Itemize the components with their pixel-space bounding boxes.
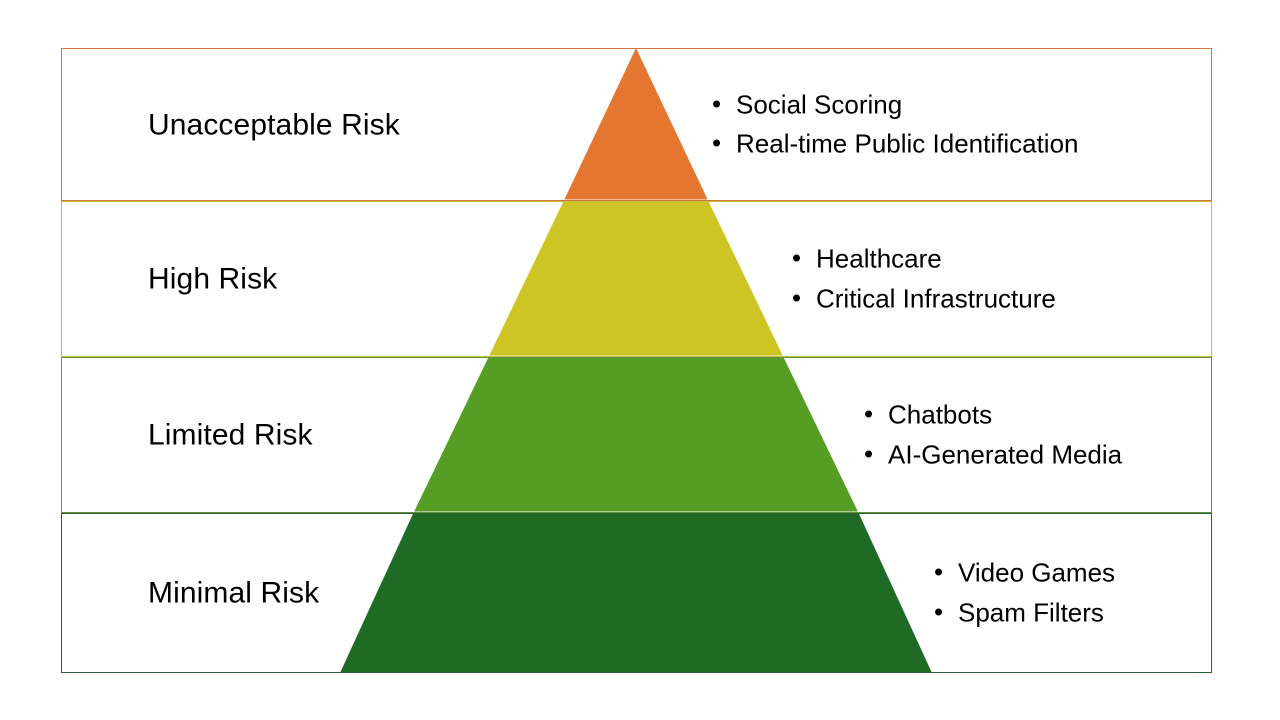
pyramid-band-high [489, 202, 782, 356]
pyramid-band-limited [414, 358, 858, 512]
pyramid-band-unacceptable [564, 48, 707, 200]
risk-pyramid-slide: Unacceptable Risk Social Scoring Real-ti… [0, 0, 1280, 720]
pyramid-graphic [0, 0, 1280, 720]
pyramid-band-minimal [340, 514, 932, 673]
pyramid-bands [340, 48, 932, 673]
